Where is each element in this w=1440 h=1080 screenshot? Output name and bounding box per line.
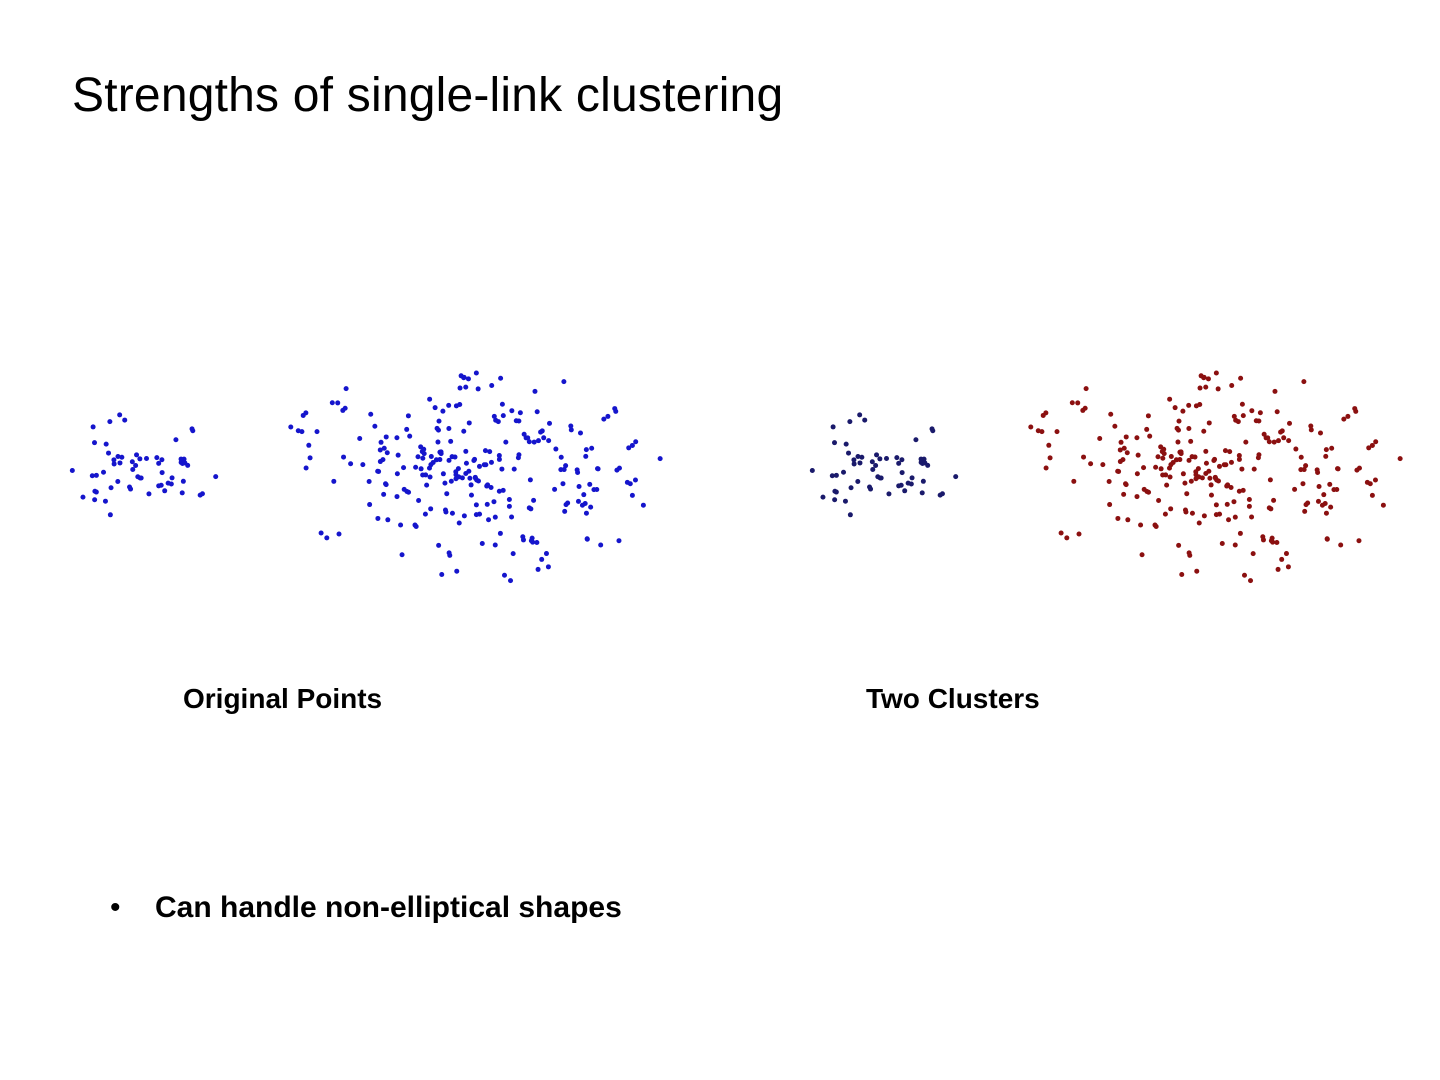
scatter-point [420, 473, 425, 478]
scatter-point [851, 457, 856, 462]
scatter-point [1261, 537, 1266, 542]
scatter-point [1112, 424, 1117, 429]
scatter-point [92, 497, 97, 502]
scatter-point [1370, 493, 1375, 498]
scatter-point [534, 540, 539, 545]
scatter-point [434, 457, 439, 462]
scatter-point [1214, 371, 1219, 376]
scatter-point [884, 456, 889, 461]
scatter-point [539, 557, 544, 562]
scatter-point [536, 567, 541, 572]
scatter-point [144, 456, 149, 461]
scatter-point [830, 473, 835, 478]
scatter-point [596, 466, 601, 471]
scatter-point [1299, 455, 1304, 460]
scatter-point [1281, 435, 1286, 440]
scatter-point [1203, 449, 1208, 454]
scatter-point [337, 531, 342, 536]
scatter-point [1198, 386, 1203, 391]
scatter-point [173, 437, 178, 442]
scatter-point [1268, 506, 1273, 511]
scatter-point [498, 531, 503, 536]
scatter-point [485, 502, 490, 507]
scatter-point [508, 578, 513, 583]
scatter-point [540, 428, 545, 433]
scatter-point [496, 419, 501, 424]
scatter-point [1284, 551, 1289, 556]
scatter-point [299, 429, 304, 434]
scatter-point [1179, 572, 1184, 577]
scatter-point [429, 454, 434, 459]
scatter-point [421, 447, 426, 452]
scatter-point [894, 455, 899, 460]
scatter-point [528, 477, 533, 482]
scatter-point [375, 516, 380, 521]
scatter-point [1168, 506, 1173, 511]
scatter-point [185, 463, 190, 468]
scatter-point [559, 455, 564, 460]
scatter-point [1100, 462, 1105, 467]
scatter-point [1044, 465, 1049, 470]
scatter-point [641, 503, 646, 508]
scatter-point [512, 467, 517, 472]
scatter-point [416, 498, 421, 503]
scatter-point [108, 512, 113, 517]
scatter-point [439, 572, 444, 577]
scatter-point [1258, 410, 1263, 415]
scatter-point [1160, 473, 1165, 478]
scatter-point [288, 424, 293, 429]
scatter-point [489, 460, 494, 465]
scatter-point [170, 475, 175, 480]
scatter-point [1317, 484, 1322, 489]
scatter-point [1327, 482, 1332, 487]
scatter-point [576, 499, 581, 504]
scatter-point [1254, 418, 1259, 423]
scatter-point [1233, 515, 1238, 520]
scatter-point [925, 463, 930, 468]
scatter-point [1247, 504, 1252, 509]
scatter-point [1175, 440, 1180, 445]
scatter-point [1214, 502, 1219, 507]
scatter-point [406, 490, 411, 495]
scatter-point [832, 497, 837, 502]
scatter-point [583, 454, 588, 459]
scatter-point [585, 536, 590, 541]
scatter-point [577, 484, 582, 489]
scatter-point [1200, 475, 1205, 480]
scatter-point [1373, 439, 1378, 444]
scatter-point [1293, 447, 1298, 452]
scatter-point [820, 495, 825, 500]
scatter-point [1328, 505, 1333, 510]
scatter-point [1083, 406, 1088, 411]
scatter-point [1229, 485, 1234, 490]
scatter-point [436, 543, 441, 548]
scatter-point [92, 489, 97, 494]
scatter-point [847, 419, 852, 424]
scatter-point [1220, 541, 1225, 546]
scatter-point [107, 419, 112, 424]
scatter-point [1160, 456, 1165, 461]
scatter-point [360, 462, 365, 467]
scatter-point [467, 476, 472, 481]
scatter-point [1188, 439, 1193, 444]
scatter-point [1175, 426, 1180, 431]
scatter-point [896, 461, 901, 466]
scatter-point [1373, 477, 1378, 482]
scatter-point [1181, 471, 1186, 476]
scatter-point [1179, 451, 1184, 456]
scatter-point [476, 386, 481, 391]
scatter-point [1207, 420, 1212, 425]
scatter-point [1070, 400, 1075, 405]
scatter-point [499, 467, 504, 472]
scatter-point [461, 375, 466, 380]
scatter-point [1252, 467, 1257, 472]
scatter-point [1119, 440, 1124, 445]
scatter-point [544, 551, 549, 556]
scatter-point [1233, 543, 1238, 548]
scatter-point [456, 466, 461, 471]
scatter-point [831, 424, 836, 429]
scatter-point [1227, 449, 1232, 454]
scatter-point [1222, 462, 1227, 467]
scatter-point [1275, 409, 1280, 414]
scatter-point [896, 483, 901, 488]
scatter-point [594, 487, 599, 492]
scatter-point [1304, 502, 1309, 507]
scatter-point [516, 452, 521, 457]
scatter-point [357, 436, 362, 441]
scatter-point [1269, 538, 1274, 543]
scatter-point [367, 479, 372, 484]
scatter-point [1267, 439, 1272, 444]
scatter-point [1146, 413, 1151, 418]
scatter-point [1187, 458, 1192, 463]
scatter-point [535, 409, 540, 414]
scatter-point [469, 493, 474, 498]
scatter-point [1211, 458, 1216, 463]
scatter-point [547, 421, 552, 426]
scatter-point [380, 457, 385, 462]
scatter-point [493, 543, 498, 548]
scatter-point [877, 456, 882, 461]
scatter-point [1209, 493, 1214, 498]
scatter-point [1187, 550, 1192, 555]
scatter-point [483, 448, 488, 453]
scatter-point [70, 468, 75, 473]
scatter-point [1204, 461, 1209, 466]
scatter-point [1398, 456, 1403, 461]
scatter-point [532, 389, 537, 394]
scatter-point [1286, 438, 1291, 443]
scatter-point [487, 449, 492, 454]
scatter-point [395, 494, 400, 499]
scatter-point [1135, 471, 1140, 476]
scatter-point [953, 474, 958, 479]
scatter-point [1366, 445, 1371, 450]
scatter-point [482, 462, 487, 467]
scatter-point [1048, 455, 1053, 460]
scatter-point [1161, 447, 1166, 452]
scatter-point [433, 405, 438, 410]
scatter-point [1315, 467, 1320, 472]
scatter-point [454, 569, 459, 574]
scatter-point [879, 475, 884, 480]
scatter-point [139, 475, 144, 480]
scatter-point [154, 455, 159, 460]
scatter-point [1203, 385, 1208, 390]
scatter-point [156, 483, 161, 488]
scatter-point [616, 538, 621, 543]
scatter-point [633, 477, 638, 482]
scatter-point [1302, 509, 1307, 514]
scatter-point [1077, 531, 1082, 536]
scatter-point [552, 487, 557, 492]
scatter-point [501, 488, 506, 493]
scatter-point [441, 471, 446, 476]
scatter-point [1140, 552, 1145, 557]
scatter-point [446, 403, 451, 408]
scatter-point [810, 468, 815, 473]
scatter-point [1186, 403, 1191, 408]
scatter-point [179, 457, 184, 462]
scatter-point [1287, 421, 1292, 426]
scatter-point [920, 490, 925, 495]
scatter-point [146, 491, 151, 496]
scatter-point [1242, 573, 1247, 578]
scatter-point [111, 457, 116, 462]
scatter-point [1189, 479, 1194, 484]
scatter-point [335, 400, 340, 405]
scatter-point [1248, 578, 1253, 583]
scatter-point [564, 502, 569, 507]
scatter-point [1286, 564, 1291, 569]
scatter-point [396, 453, 401, 458]
scatter-point [463, 449, 468, 454]
scatter-point [181, 479, 186, 484]
scatter-point [900, 470, 905, 475]
scatter-point [489, 485, 494, 490]
scatter-point [857, 412, 862, 417]
scatter-point [1192, 455, 1197, 460]
scatter-point [1153, 465, 1158, 470]
scatter-point [514, 418, 519, 423]
scatter-point [862, 418, 867, 423]
scatter-point [511, 551, 516, 556]
scatter-point [1223, 448, 1228, 453]
scatter-point [1055, 429, 1060, 434]
scatter-point [447, 458, 452, 463]
scatter-point [1184, 491, 1189, 496]
scatter-plot-original-points [30, 340, 690, 610]
scatter-point [605, 414, 610, 419]
scatter-point [1229, 460, 1234, 465]
scatter-point [133, 463, 138, 468]
scatter-point [1241, 413, 1246, 418]
bullet-dot-icon: • [110, 888, 155, 928]
scatter-point [1180, 409, 1185, 414]
caption-two-clusters: Two Clusters [866, 683, 1040, 715]
scatter-point [1238, 376, 1243, 381]
scatter-point [115, 479, 120, 484]
scatter-point [103, 499, 108, 504]
scatter-point [1239, 467, 1244, 472]
scatter-point [521, 537, 526, 542]
scatter-point [1334, 487, 1339, 492]
scatter-point [1202, 513, 1207, 518]
scatter-point [190, 426, 195, 431]
scatter-point [921, 479, 926, 484]
scatter-point [1124, 482, 1129, 487]
scatter-point [930, 426, 935, 431]
scatter-point [584, 511, 589, 516]
scatter-point [1167, 466, 1172, 471]
scatter-point [843, 499, 848, 504]
scatter-point [80, 495, 85, 500]
scatter-point [626, 445, 631, 450]
scatter-point [1163, 512, 1168, 517]
scatter-point [1146, 490, 1151, 495]
scatter-point [873, 463, 878, 468]
scatter-point [428, 475, 433, 480]
scatter-point [385, 517, 390, 522]
scatter-point [529, 538, 534, 543]
scatter-series-large-cluster [1028, 371, 1402, 584]
scatter-point [886, 491, 891, 496]
scatter-point [91, 424, 96, 429]
scatter-series-small-cluster [810, 412, 958, 517]
scatter-point [1071, 479, 1076, 484]
scatter-point [919, 457, 924, 462]
scatter-point [115, 454, 120, 459]
scatter-point [471, 458, 476, 463]
scatter-point [1272, 389, 1277, 394]
scatter-point [509, 515, 514, 520]
scatter-point [368, 412, 373, 417]
scatter-point [444, 491, 449, 496]
scatter-point [589, 446, 594, 451]
scatter-point [588, 505, 593, 510]
scatter-point [443, 507, 448, 512]
scatter-point [628, 481, 633, 486]
scatter-point [497, 453, 502, 458]
scatter-point [460, 475, 465, 480]
scatter-point [502, 573, 507, 578]
scatter-point [1209, 482, 1214, 487]
scatter-point [848, 512, 853, 517]
scatter-point [427, 466, 432, 471]
scatter-point [1338, 543, 1343, 548]
scatter-point [541, 435, 546, 440]
scatter-point [857, 460, 862, 465]
scatter-point [384, 434, 389, 439]
scatter-point [1321, 492, 1326, 497]
scatter-point [1124, 434, 1129, 439]
scatter-point [1272, 440, 1277, 445]
scatter-point [507, 504, 512, 509]
scatter-point [419, 466, 424, 471]
scatter-point [1115, 516, 1120, 521]
scatter-point [109, 485, 114, 490]
scatter-point [1154, 524, 1159, 529]
scatter-point [1162, 451, 1167, 456]
scatter-point [457, 521, 462, 526]
scatter-point [416, 454, 421, 459]
scatter-point [330, 400, 335, 405]
scatter-point [1213, 475, 1218, 480]
scatter-point [442, 481, 447, 486]
scatter-point [518, 410, 523, 415]
bullet-list: • Can handle non-elliptical shapes [110, 888, 1010, 928]
scatter-point [584, 447, 589, 452]
scatter-point [1125, 517, 1130, 522]
scatter-point [1247, 497, 1252, 502]
scatter-point [1183, 507, 1188, 512]
scatter-point [1177, 419, 1182, 424]
scatter-point [561, 379, 566, 384]
scatter-point [1249, 515, 1254, 520]
scatter-point [536, 438, 541, 443]
scatter-point [1279, 557, 1284, 562]
scatter-point [1308, 423, 1313, 428]
scatter-point [449, 479, 454, 484]
scatter-point [1186, 426, 1191, 431]
scatter-point [498, 376, 503, 381]
scatter-point [457, 402, 462, 407]
scatter-point [1107, 479, 1112, 484]
scatter-point [467, 420, 472, 425]
scatter-point [1271, 498, 1276, 503]
scatter-point [423, 512, 428, 517]
scatter-point [448, 439, 453, 444]
scatter-point [428, 506, 433, 511]
scatter-point [1241, 488, 1246, 493]
scatter-point [849, 485, 854, 490]
scatter-point [385, 450, 390, 455]
scatter-point [501, 413, 506, 418]
scatter-point [1059, 531, 1064, 536]
scatter-point [1088, 461, 1093, 466]
scatter-point [198, 493, 203, 498]
scatter-point [1324, 511, 1329, 516]
scatter-point [870, 459, 875, 464]
scatter-point [1262, 432, 1267, 437]
scatter-point [1118, 447, 1123, 452]
scatter-point [1194, 569, 1199, 574]
scatter-point [420, 456, 425, 461]
scatter-point [1168, 475, 1173, 480]
scatter-point [1325, 536, 1330, 541]
scatter-series-small-cluster [70, 412, 218, 517]
scatter-point [375, 469, 380, 474]
scatter-point [1206, 376, 1211, 381]
scatter-point [160, 470, 165, 475]
scatter-series-large-cluster [288, 371, 662, 584]
scatter-point [1292, 487, 1297, 492]
scatter-point [424, 483, 429, 488]
scatter-point [169, 481, 174, 486]
caption-original-points: Original Points [183, 683, 382, 715]
scatter-point [1046, 443, 1051, 448]
scatter-point [1147, 434, 1152, 439]
scatter-point [1043, 410, 1048, 415]
scatter-point [1136, 453, 1141, 458]
scatter-point [1169, 454, 1174, 459]
scatter-point [180, 490, 185, 495]
scatter-point [1084, 386, 1089, 391]
